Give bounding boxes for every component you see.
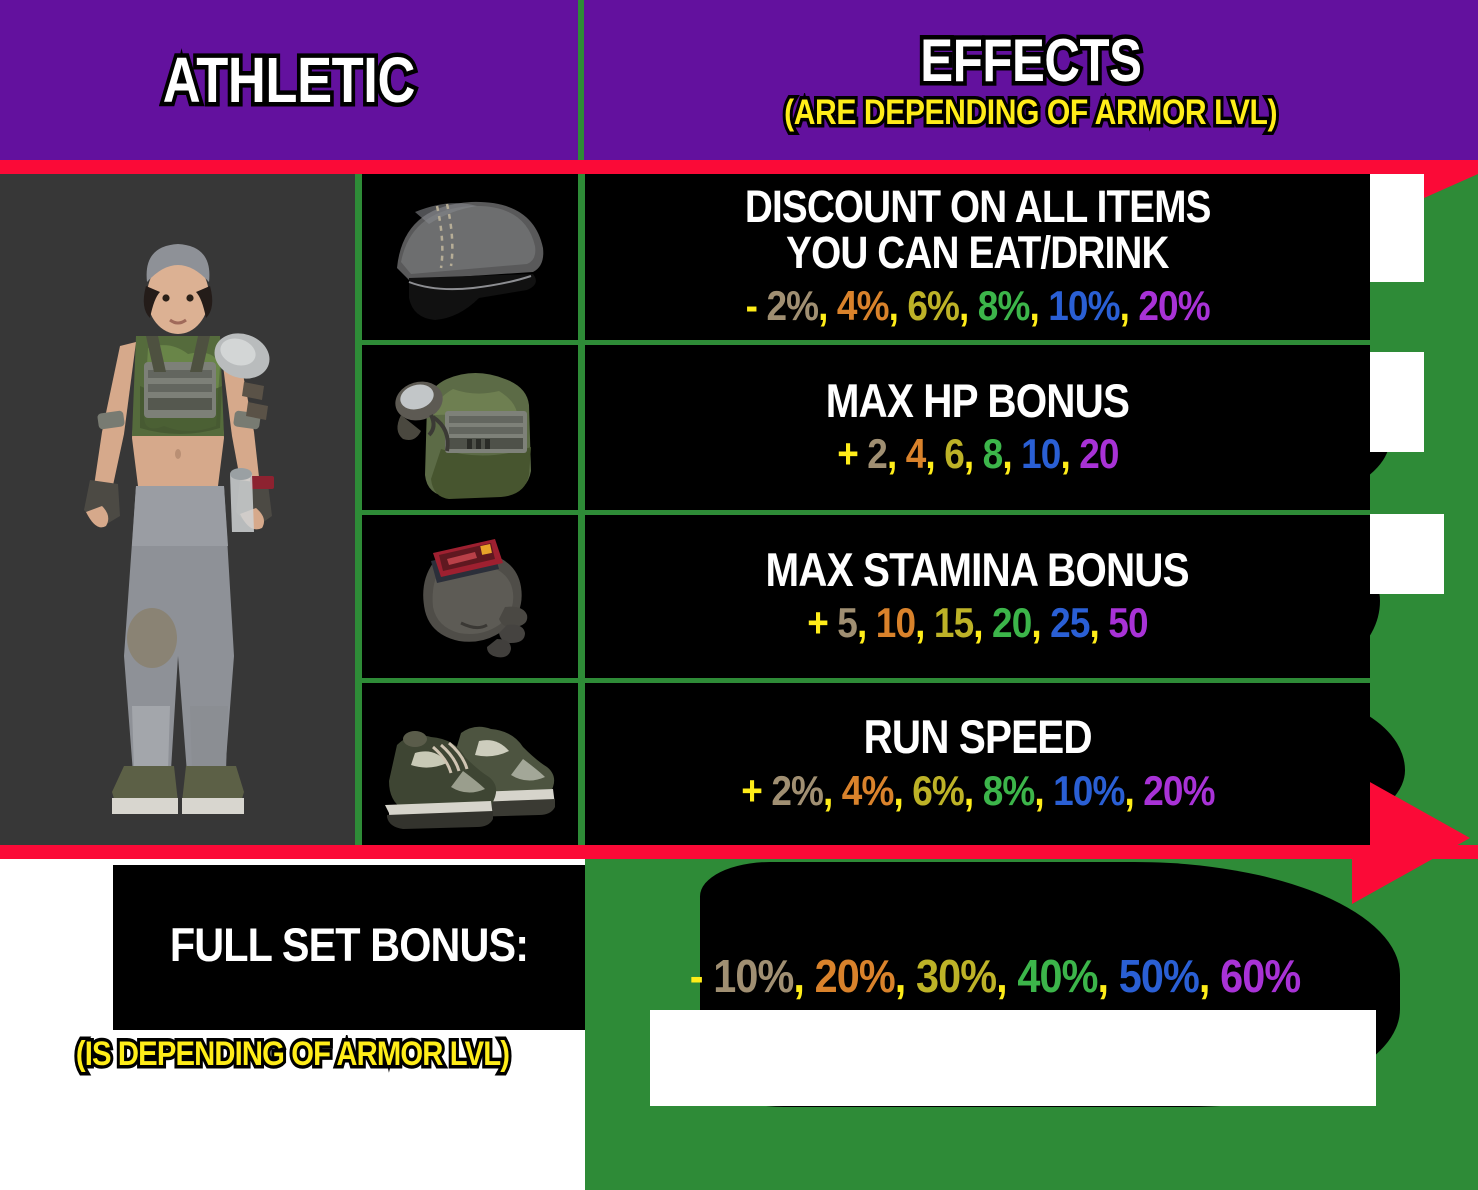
shoes-icon bbox=[375, 689, 565, 839]
effect-row-1: DISCOUNT ON ALL ITEMS YOU CAN EAT/DRINK … bbox=[585, 174, 1370, 340]
armor-table: DISCOUNT ON ALL ITEMS YOU CAN EAT/DRINK … bbox=[0, 174, 1478, 845]
effect-tier-4: 20 bbox=[992, 599, 1031, 646]
character-preview-cell bbox=[0, 174, 355, 845]
effect-tier-6: 20% bbox=[1143, 767, 1214, 814]
full-set-sign: - bbox=[690, 950, 703, 1002]
effect-tier-5: 10 bbox=[1021, 430, 1060, 477]
effect-tier-6: 20 bbox=[1079, 430, 1118, 477]
footer-red-rule bbox=[0, 845, 1478, 859]
effect-row-4: RUN SPEED + 2%, 4%, 6%, 8%, 10%, 20% bbox=[585, 683, 1370, 845]
effect-tier-6: 20% bbox=[1138, 282, 1209, 329]
header-set-name-cell: ATHLETIC bbox=[0, 0, 578, 160]
full-set-tier-2: 20% bbox=[815, 950, 895, 1002]
effect-tier-5: 25 bbox=[1050, 599, 1089, 646]
character-avatar bbox=[28, 186, 328, 836]
table-row-divider-1 bbox=[362, 340, 1370, 345]
effect-tier-3: 6 bbox=[944, 430, 964, 477]
header-divider bbox=[578, 0, 584, 160]
effect-tier-5: 10% bbox=[1048, 282, 1119, 329]
gloves-icon bbox=[375, 523, 565, 673]
armor-piece-gloves[interactable] bbox=[362, 515, 578, 681]
page-title: ATHLETIC bbox=[163, 48, 415, 112]
effect-tier-1: 5 bbox=[837, 599, 857, 646]
full-set-bonus-label: FULL SET BONUS: bbox=[141, 921, 556, 968]
full-set-effect-label: FOOD & WATER USAGE bbox=[647, 1006, 1342, 1062]
effect-tier-2: 10 bbox=[876, 599, 915, 646]
effect-values-3: + 5, 10, 15, 20, 25, 50 bbox=[807, 599, 1147, 647]
full-set-tier-5: 50% bbox=[1119, 950, 1199, 1002]
effect-title-line2: YOU CAN EAT/DRINK bbox=[786, 230, 1168, 276]
full-set-values: - 10%, 20%, 30%, 40%, 50%, 60% bbox=[640, 949, 1351, 1003]
full-set-tier-6: 60% bbox=[1220, 950, 1300, 1002]
full-set-tier-4: 40% bbox=[1017, 950, 1097, 1002]
effect-title-line1: RUN SPEED bbox=[863, 713, 1091, 761]
table-row-divider-3 bbox=[362, 678, 1370, 683]
effect-tier-1: 2% bbox=[766, 282, 818, 329]
header-bar: ATHLETIC EFFECTS (ARE DEPENDING OF ARMOR… bbox=[0, 0, 1478, 160]
armor-piece-cap[interactable] bbox=[362, 174, 578, 340]
full-set-label-panel: FULL SET BONUS: (IS DEPENDING OF ARMOR L… bbox=[0, 859, 585, 1190]
effect-row-2: MAX HP BONUS + 2, 4, 6, 8, 10, 20 bbox=[585, 345, 1370, 510]
effect-sign: + bbox=[807, 599, 828, 646]
full-set-tier-1: 10% bbox=[713, 950, 793, 1002]
effect-tier-2: 4 bbox=[905, 430, 925, 477]
effect-values-4: + 2%, 4%, 6%, 8%, 10%, 20% bbox=[741, 767, 1214, 815]
effect-tier-3: 6% bbox=[907, 282, 959, 329]
armor-piece-vest[interactable] bbox=[362, 345, 578, 511]
character-illustration bbox=[28, 186, 328, 836]
effect-title-line1: MAX HP BONUS bbox=[826, 377, 1129, 425]
armor-piece-shoes[interactable] bbox=[362, 683, 578, 845]
effect-tier-3: 15 bbox=[934, 599, 973, 646]
effect-values-2: + 2, 4, 6, 8, 10, 20 bbox=[837, 430, 1118, 478]
infographic-root: ATHLETIC EFFECTS (ARE DEPENDING OF ARMOR… bbox=[0, 0, 1478, 1190]
effect-tier-3: 6% bbox=[912, 767, 964, 814]
effect-sign: - bbox=[745, 282, 756, 329]
full-set-tier-3: 30% bbox=[916, 950, 996, 1002]
effect-tier-6: 50 bbox=[1108, 599, 1147, 646]
effect-tier-2: 4% bbox=[837, 282, 889, 329]
effect-tier-4: 8% bbox=[978, 282, 1030, 329]
effect-tier-1: 2 bbox=[867, 430, 887, 477]
effect-title-line1: MAX STAMINA BONUS bbox=[766, 546, 1189, 594]
effects-subtitle: (ARE DEPENDING OF ARMOR LVL) bbox=[785, 95, 1278, 130]
effect-tier-4: 8% bbox=[982, 767, 1034, 814]
effect-tier-1: 2% bbox=[771, 767, 823, 814]
full-set-bonus-note: (IS DEPENDING OF ARMOR LVL) bbox=[41, 1037, 544, 1071]
header-effects-cell: EFFECTS (ARE DEPENDING OF ARMOR LVL) bbox=[584, 0, 1478, 160]
effect-title-line1: DISCOUNT ON ALL ITEMS bbox=[745, 184, 1211, 230]
effect-sign: + bbox=[837, 430, 858, 477]
effect-sign: + bbox=[741, 767, 762, 814]
header-red-rule bbox=[0, 160, 1478, 174]
table-divider-1 bbox=[355, 174, 362, 845]
table-row-divider-2 bbox=[362, 510, 1370, 515]
cap-icon bbox=[375, 182, 565, 332]
effect-row-3: MAX STAMINA BONUS + 5, 10, 15, 20, 25, 5… bbox=[585, 515, 1370, 678]
effect-tier-2: 4% bbox=[841, 767, 893, 814]
effect-tier-5: 10% bbox=[1053, 767, 1124, 814]
effect-values-1: - 2%, 4%, 6%, 8%, 10%, 20% bbox=[745, 282, 1209, 330]
effects-title: EFFECTS bbox=[920, 31, 1141, 91]
vest-icon bbox=[375, 353, 565, 503]
effect-tier-4: 8 bbox=[982, 430, 1002, 477]
